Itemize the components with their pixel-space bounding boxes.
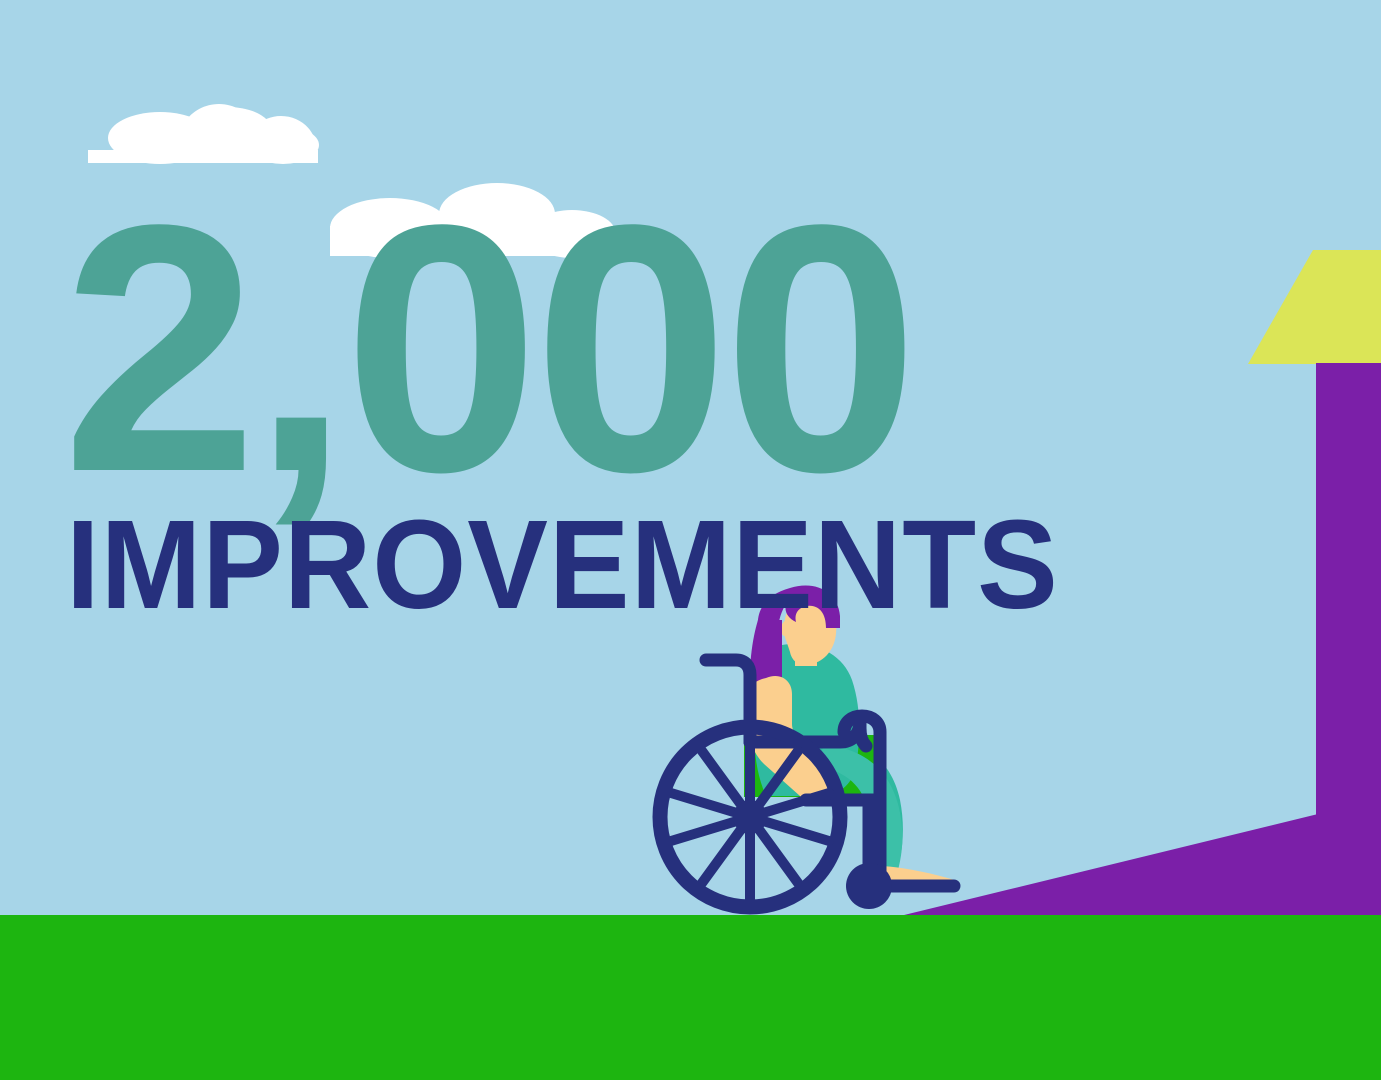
grass-ground bbox=[0, 915, 1381, 1080]
illustration-scene bbox=[0, 0, 1381, 1080]
wheelchair-wheel-hub bbox=[733, 800, 767, 834]
building-wall bbox=[1316, 363, 1381, 916]
infographic-canvas: 2,000 IMPROVEMENTS bbox=[0, 0, 1381, 1080]
wheelchair-caster-wheel bbox=[846, 863, 892, 909]
